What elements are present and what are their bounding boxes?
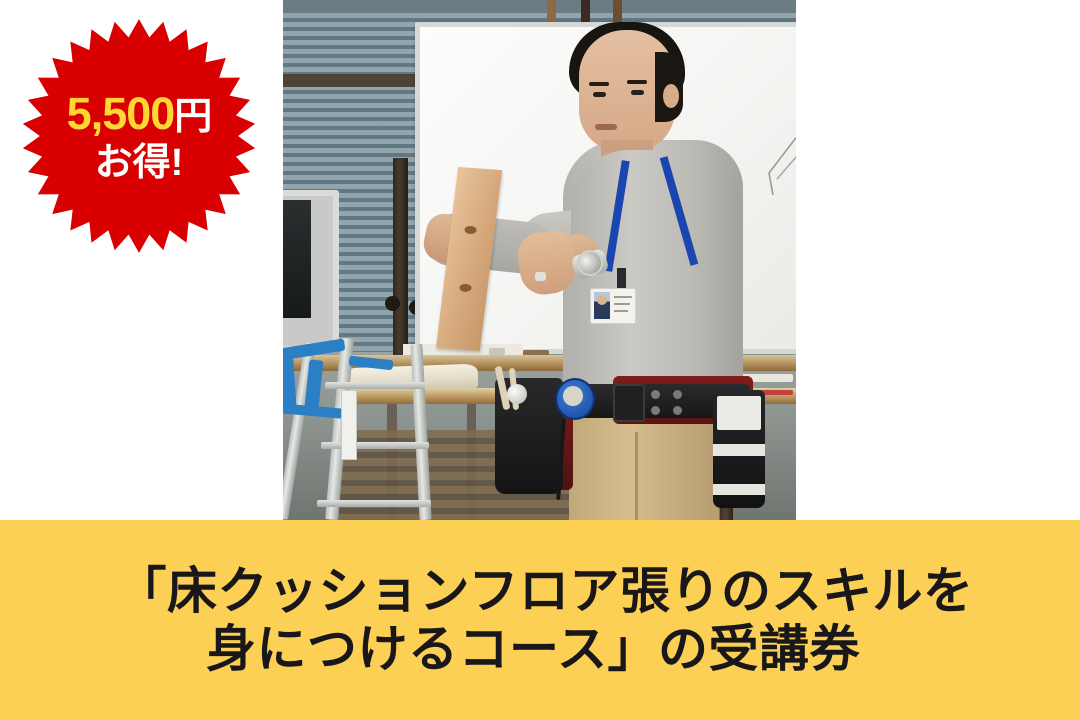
mouth <box>595 124 617 130</box>
finger-ring <box>535 272 546 281</box>
id-badge-text-line <box>614 296 632 298</box>
instructor-id-badge <box>590 288 636 324</box>
instructor <box>283 0 796 520</box>
banner-title-line-2: 身につけるコース」の受講券 <box>206 620 874 678</box>
wood-knot <box>464 226 477 235</box>
discount-starburst-badge <box>14 18 264 254</box>
belt-rivet <box>651 406 660 415</box>
tool-belt-buckle <box>613 384 645 422</box>
pants <box>569 412 719 520</box>
banner-title-line-1: 「床クッションフロア張りのスキルを <box>107 562 974 620</box>
tool-pouch-tape-band <box>713 484 765 495</box>
id-badge-text-line <box>614 310 628 312</box>
wood-knot <box>459 283 472 292</box>
pants-seam <box>635 432 638 520</box>
ear <box>663 84 679 108</box>
belt-rivet <box>673 390 682 399</box>
starburst-shape <box>14 18 264 254</box>
tool-pouch-tape-band <box>713 444 765 456</box>
tool-roller <box>507 384 527 404</box>
id-badge-face <box>597 295 607 305</box>
tape-measure-center <box>563 386 583 406</box>
eyebrow <box>589 82 609 86</box>
belt-rivet <box>673 406 682 415</box>
eyebrow <box>627 80 647 84</box>
id-badge-text-line <box>614 303 630 305</box>
course-title-banner: 「床クッションフロア張りのスキルを 身につけるコース」の受講券 <box>0 520 1080 720</box>
eye <box>593 92 606 97</box>
belt-rivet <box>651 390 660 399</box>
ticket-graphic: 5,500円 お得! 「床クッションフロア張りのスキルを 身につけるコース」の受… <box>0 0 1080 720</box>
eye <box>631 90 644 95</box>
lanyard-clip <box>617 268 626 290</box>
tool-pouch-label <box>717 396 761 430</box>
course-photo <box>283 0 796 520</box>
